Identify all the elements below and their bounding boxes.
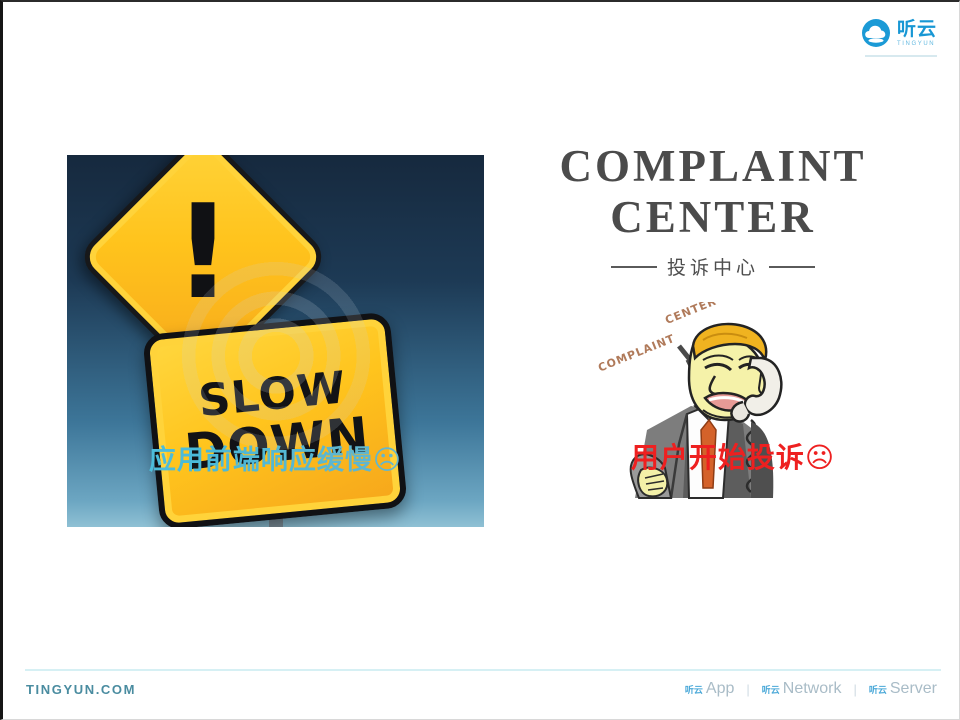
subtitle-cn: 投诉中心 xyxy=(667,253,759,280)
brand-underline xyxy=(865,55,937,57)
brand-logo: 听云 TINGYUN xyxy=(861,18,937,48)
footer-separator-2: | xyxy=(853,682,856,697)
product-network-name: Network xyxy=(783,680,842,698)
complaint-center-title: COMPLAINT CENTER xyxy=(503,142,923,241)
product-server-tag: 听云 xyxy=(869,683,887,696)
product-server-name: Server xyxy=(890,680,937,698)
title-line-center: CENTER xyxy=(503,193,923,242)
footer-product-list: 听云 App | 听云 Network | 听云 Server xyxy=(685,680,937,698)
complaint-center-subtitle: 投诉中心 xyxy=(503,253,923,280)
footer-website-url: TINGYUN.COM xyxy=(26,682,136,697)
footer-separator-1: | xyxy=(746,682,749,697)
product-server[interactable]: 听云 Server xyxy=(869,680,937,698)
rule-right xyxy=(769,266,815,268)
product-app-name: App xyxy=(706,680,734,698)
slide-content: ! SLOW DOWN COMPLAINT CENTER 投诉中心 xyxy=(3,122,960,602)
product-network[interactable]: 听云 Network xyxy=(762,680,842,698)
exclamation-mark-icon: ! xyxy=(118,172,288,342)
slide: 听云 TINGYUN ! SLOW DOWN COMPLAINT xyxy=(0,0,960,720)
cloud-circle-icon xyxy=(861,18,891,48)
title-line-complaint: COMPLAINT xyxy=(503,142,923,191)
right-illustration: COMPLAINT CENTER 投诉中心 COMPLAINT CENTER xyxy=(503,142,923,542)
brand-wordmark: 听云 TINGYUN xyxy=(897,20,937,47)
svg-text:COMPLAINT: COMPLAINT xyxy=(596,332,677,375)
brand-name-en: TINGYUN xyxy=(897,41,935,47)
rule-left xyxy=(611,266,657,268)
right-caption: 用户开始投诉☹ xyxy=(563,436,903,476)
svg-text:CENTER: CENTER xyxy=(663,302,718,327)
footer-divider xyxy=(25,669,941,671)
brand-name-cn: 听云 xyxy=(897,20,937,39)
product-network-tag: 听云 xyxy=(762,683,780,696)
product-app[interactable]: 听云 App xyxy=(685,680,734,698)
slow-down-sign: SLOW DOWN xyxy=(142,312,408,527)
left-caption: 应用前端响应缓慢☹ xyxy=(67,438,484,477)
product-app-tag: 听云 xyxy=(685,683,703,696)
